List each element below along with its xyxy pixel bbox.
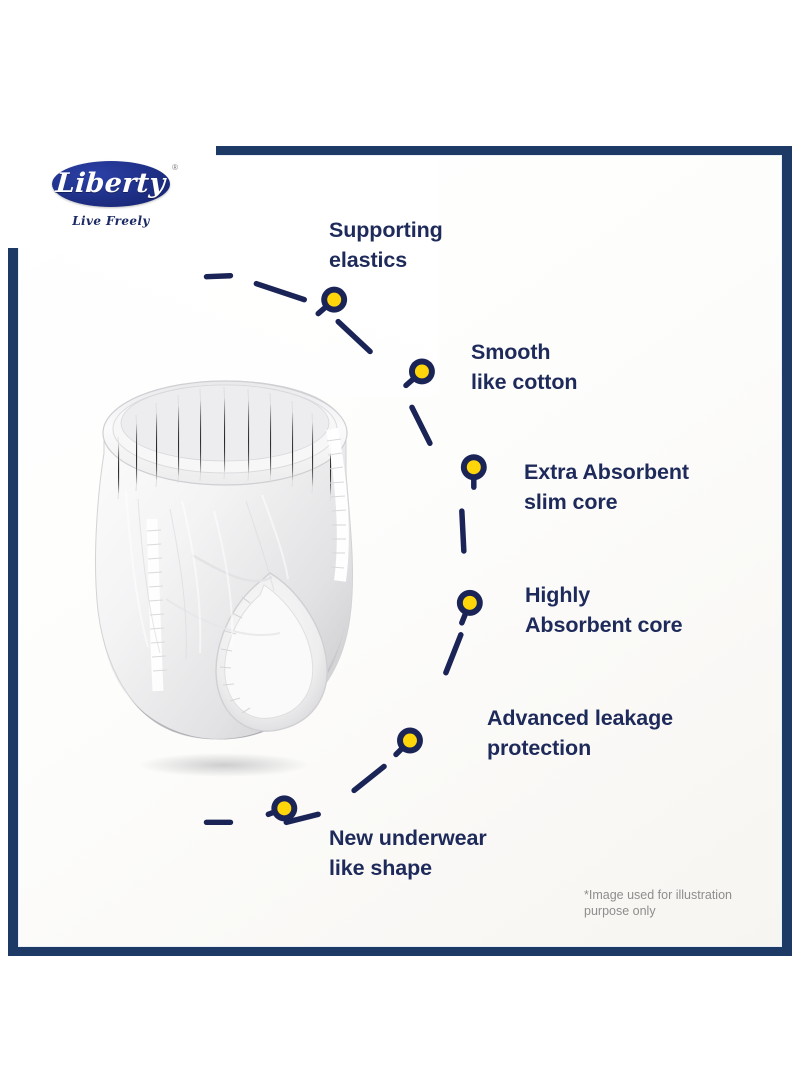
feature-marker-highly-absorbent-core <box>457 590 483 616</box>
feature-label-supporting-elastics: Supporting elastics <box>329 216 443 275</box>
brand-name: Liberty <box>56 170 167 197</box>
feature-marker-new-underwear-like-shape <box>271 795 297 821</box>
arc-dash <box>462 511 464 551</box>
arc-dash <box>412 407 430 443</box>
arc-dash <box>256 284 304 300</box>
brand-tagline: Live Freely <box>72 214 150 228</box>
feature-marker-advanced-leakage-protection <box>397 728 423 754</box>
marker-stem <box>396 741 410 755</box>
content-card-frame: Supporting elastics Smooth like cotton E… <box>8 146 792 956</box>
illustration-disclaimer: *Image used for illustration purpose onl… <box>584 887 782 920</box>
arc-dash <box>446 635 461 673</box>
marker-stem <box>318 300 334 314</box>
marker-stem <box>406 371 422 385</box>
arc-dash <box>286 814 318 822</box>
registered-trademark-icon: ® <box>172 163 178 172</box>
feature-label-extra-absorbent-slim-core: Extra Absorbent slim core <box>524 458 689 517</box>
content-card: Supporting elastics Smooth like cotton E… <box>18 155 782 947</box>
feature-label-advanced-leakage-protection: Advanced leakage protection <box>487 704 673 763</box>
feature-marker-supporting-elastics <box>321 287 347 313</box>
liberty-oval-icon: Liberty ® <box>52 161 170 207</box>
feature-marker-extra-absorbent-slim-core <box>461 454 487 480</box>
feature-marker-smooth-like-cotton <box>409 358 435 384</box>
feature-label-new-underwear-like-shape: New underwear like shape <box>329 824 487 883</box>
feature-label-smooth-like-cotton: Smooth like cotton <box>471 338 577 397</box>
product-image <box>74 341 374 781</box>
arc-dash <box>207 276 231 277</box>
marker-stem <box>268 808 284 814</box>
infographic-page: Supporting elastics Smooth like cotton E… <box>0 0 800 1091</box>
marker-stem <box>462 603 470 623</box>
feature-label-highly-absorbent-core: Highly Absorbent core <box>525 581 683 640</box>
